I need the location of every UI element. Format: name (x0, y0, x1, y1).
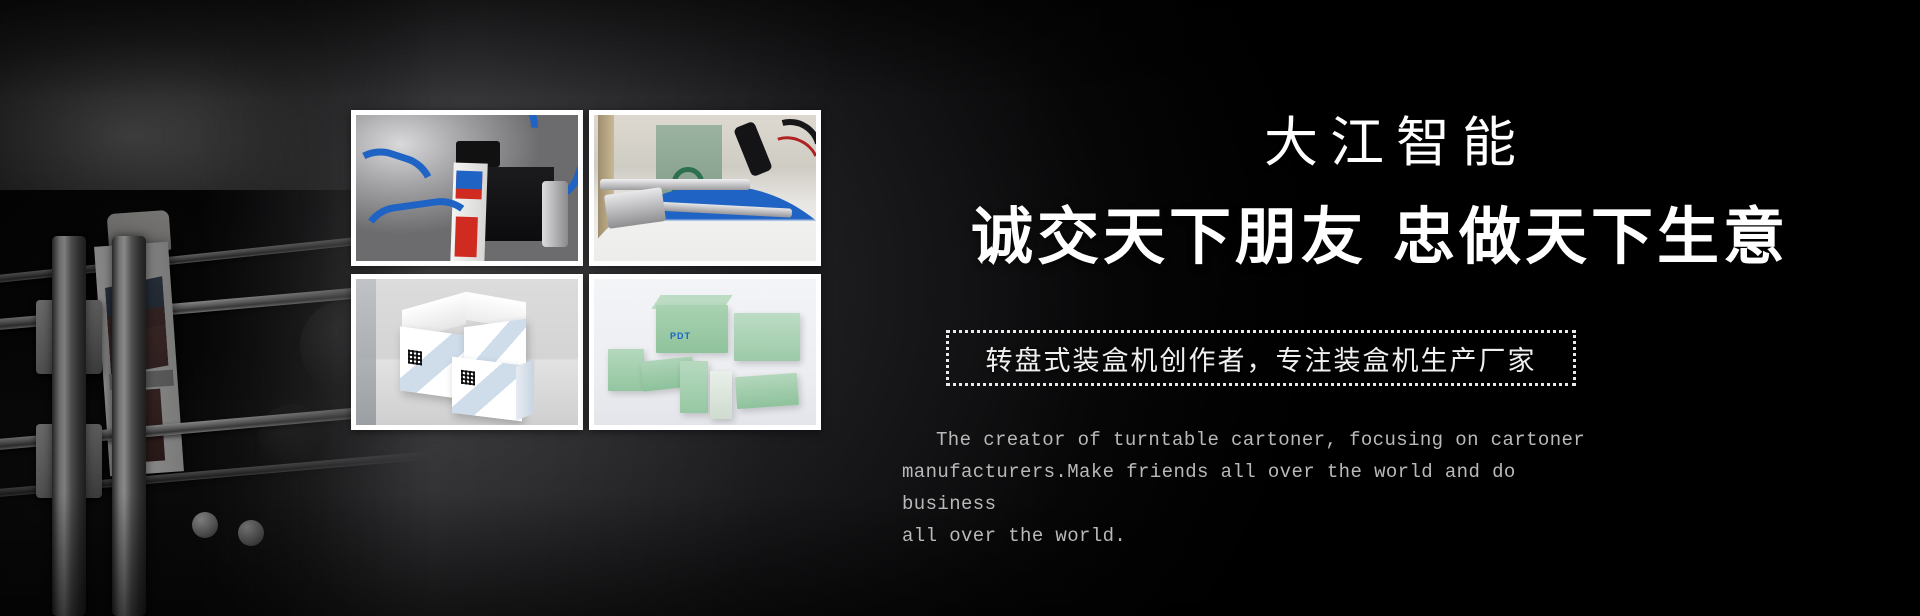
qr-code-icon (461, 370, 475, 386)
english-line-1: The creator of turntable cartoner, focus… (936, 429, 1585, 451)
tile-image: PDT (594, 279, 816, 425)
tagline-box: 转盘式装盒机创作者，专注装盒机生产厂家 (946, 330, 1576, 386)
collage-tile-robot-arm[interactable] (589, 110, 821, 266)
photo-collage: PDT (351, 110, 821, 435)
background-strip (356, 279, 376, 425)
tile-image (356, 115, 578, 261)
tagline-text: 转盘式装盒机创作者，专注装盒机生产厂家 (986, 339, 1537, 378)
english-line-3: all over the world. (902, 525, 1126, 547)
headline: 诚交天下朋友忠做天下生意 (840, 186, 1920, 276)
robot-arm-bar (600, 179, 750, 190)
green-carton (734, 313, 800, 361)
collage-tile-machine-hoses[interactable] (351, 110, 583, 266)
headline-part-1: 诚交天下朋友 (971, 204, 1367, 272)
tile-image (356, 279, 578, 425)
white-carton (710, 371, 732, 419)
carton-side-face (516, 359, 534, 420)
carton-face (452, 357, 522, 422)
carton-box (452, 357, 522, 422)
green-carton (735, 373, 799, 409)
collage-tile-green-cartons[interactable]: PDT (589, 274, 821, 430)
machine-cylinder (542, 181, 568, 247)
english-description: The creator of turntable cartoner, focus… (902, 424, 1602, 552)
headline-part-2: 忠做天下生意 (1393, 204, 1789, 272)
green-carton (680, 361, 708, 413)
promo-banner: PDT 大江智能 诚交天下朋友忠做天下生意 转盘式装盒机创作者，专注装盒机生产厂… (0, 0, 1920, 616)
english-line-2: manufacturers.Make friends all over the … (902, 461, 1516, 515)
green-carton (608, 349, 644, 391)
collage-tile-white-cartons[interactable] (351, 274, 583, 430)
tile-image (594, 115, 816, 261)
label-blue (456, 171, 483, 190)
text-zone: 大江智能 诚交天下朋友忠做天下生意 转盘式装盒机创作者，专注装盒机生产厂家 Th… (860, 0, 1920, 616)
green-carton (656, 305, 728, 353)
carton-brand-label: PDT (670, 331, 691, 341)
brand-name: 大江智能 (860, 98, 1920, 177)
qr-code-icon (408, 349, 422, 365)
